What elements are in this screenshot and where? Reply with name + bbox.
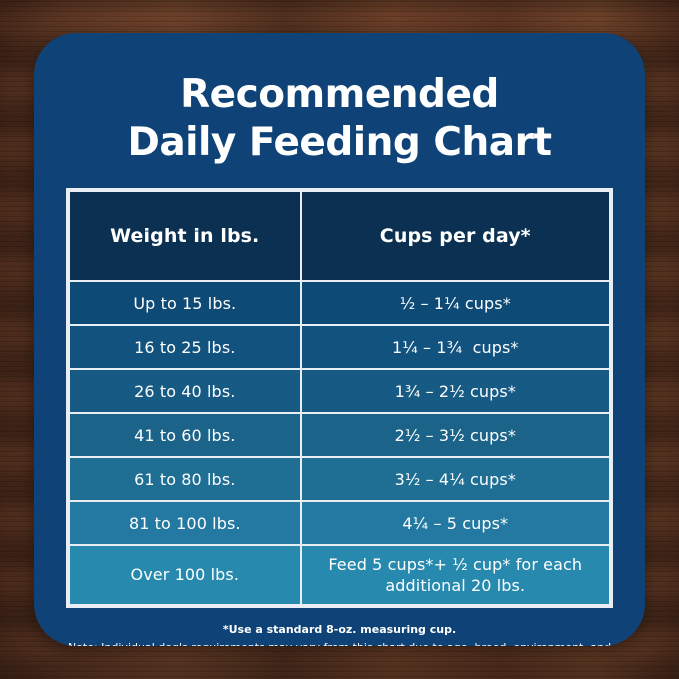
cell-weight: 61 to 80 lbs. (69, 457, 301, 501)
feeding-chart-card: Recommended Daily Feeding Chart Weight i… (34, 33, 645, 646)
cell-weight: 26 to 40 lbs. (69, 369, 301, 413)
page-title: Recommended Daily Feeding Chart (34, 33, 645, 166)
table-header-row: Weight in lbs. Cups per day* (69, 191, 610, 281)
page-title-line-2: Daily Feeding Chart (74, 119, 605, 167)
cell-cups: 1¾ – 2½ cups* (301, 369, 610, 413)
table-row: 41 to 60 lbs. 2½ – 3½ cups* (69, 413, 610, 457)
cell-cups: Feed 5 cups*+ ½ cup* for each additional… (301, 545, 610, 605)
table-row: Over 100 lbs. Feed 5 cups*+ ½ cup* for e… (69, 545, 610, 605)
table-row: 81 to 100 lbs. 4¼ – 5 cups* (69, 501, 610, 545)
table-row: Up to 15 lbs. ½ – 1¼ cups* (69, 281, 610, 325)
column-header-cups: Cups per day* (301, 191, 610, 281)
cell-weight: Over 100 lbs. (69, 545, 301, 605)
feeding-table-body: Up to 15 lbs. ½ – 1¼ cups* 16 to 25 lbs.… (69, 281, 610, 605)
table-row: 16 to 25 lbs. 1¼ – 1¾ cups* (69, 325, 610, 369)
footnote-note: Note: Individual dog's requirements may … (60, 640, 619, 646)
footnote-measuring-cup: *Use a standard 8-oz. measuring cup. (60, 622, 619, 639)
cell-cups: 3½ – 4¼ cups* (301, 457, 610, 501)
cell-weight: 16 to 25 lbs. (69, 325, 301, 369)
feeding-table-head: Weight in lbs. Cups per day* (69, 191, 610, 281)
table-row: 61 to 80 lbs. 3½ – 4¼ cups* (69, 457, 610, 501)
cell-cups: 4¼ – 5 cups* (301, 501, 610, 545)
cell-weight: 41 to 60 lbs. (69, 413, 301, 457)
cell-cups: 2½ – 3½ cups* (301, 413, 610, 457)
column-header-weight: Weight in lbs. (69, 191, 301, 281)
page-title-line-1: Recommended (74, 71, 605, 119)
cell-weight: 81 to 100 lbs. (69, 501, 301, 545)
footnotes: *Use a standard 8-oz. measuring cup. Not… (60, 622, 619, 646)
feeding-table: Weight in lbs. Cups per day* Up to 15 lb… (68, 190, 611, 606)
table-row: 26 to 40 lbs. 1¾ – 2½ cups* (69, 369, 610, 413)
cell-weight: Up to 15 lbs. (69, 281, 301, 325)
feeding-table-container: Weight in lbs. Cups per day* Up to 15 lb… (66, 188, 613, 608)
cell-cups: 1¼ – 1¾ cups* (301, 325, 610, 369)
cell-cups: ½ – 1¼ cups* (301, 281, 610, 325)
